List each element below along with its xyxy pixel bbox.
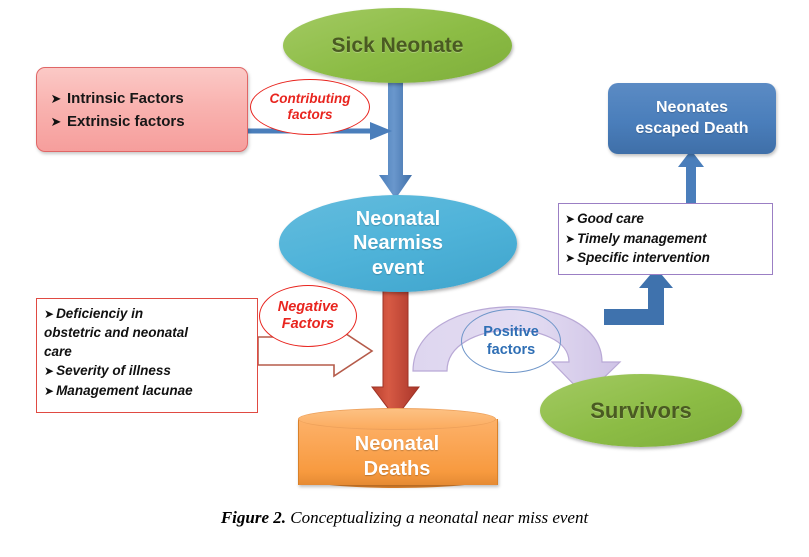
figure-caption: Figure 2. Conceptualizing a neonatal nea…: [0, 508, 809, 528]
bullet-arrow-icon: ➤: [44, 306, 54, 323]
positive-factor-1: Good care: [577, 209, 644, 229]
negative-factor-3: Management lacunae: [56, 381, 193, 400]
negative-factor-1-line-3: care: [44, 342, 252, 361]
box-negative-factors[interactable]: ➤ Deficienciy in obstetric and neonatal …: [36, 298, 258, 413]
contributing-factor-2: Extrinsic factors: [67, 113, 185, 130]
figure-caption-text: Conceptualizing a neonatal near miss eve…: [290, 508, 588, 527]
escaped-death-line-2: escaped Death: [636, 119, 749, 140]
node-survivors-label: Survivors: [590, 398, 692, 424]
negative-callout-line-2: Factors: [282, 316, 334, 333]
box-positive-factors[interactable]: ➤ Good care ➤ Timely management ➤ Specif…: [558, 203, 773, 275]
escaped-death-line-1: Neonates: [656, 98, 728, 119]
negative-factor-2: Severity of illness: [56, 361, 171, 380]
list-item: ➤ Good care: [565, 209, 768, 229]
positive-callout-line-2: factors: [487, 341, 535, 359]
list-item: ➤ Severity of illness: [44, 361, 252, 380]
bullet-arrow-icon: ➤: [44, 383, 54, 400]
positive-callout-line-1: Positive: [483, 323, 539, 341]
bullet-arrow-icon: ➤: [565, 231, 575, 248]
cylinder-top: [298, 408, 496, 430]
nearmiss-line-1: Neonatal: [356, 207, 440, 231]
connector-positives-to-escaped-death: [678, 150, 704, 203]
node-neonatal-nearmiss-event[interactable]: Neonatal Nearmiss event: [279, 195, 517, 292]
nearmiss-line-3: event: [372, 256, 424, 280]
contributing-factor-1: Intrinsic Factors: [67, 90, 184, 107]
contributing-callout-line-2: factors: [287, 107, 332, 123]
connector-nearmiss-to-deaths: [372, 282, 419, 418]
list-item: ➤ Management lacunae: [44, 381, 252, 400]
node-survivors[interactable]: Survivors: [540, 374, 742, 447]
callout-contributing-factors[interactable]: Contributing factors: [250, 79, 370, 135]
deaths-line-2: Deaths: [298, 457, 496, 482]
box-contributing-factors[interactable]: ➤ Intrinsic Factors ➤ Extrinsic factors: [36, 67, 248, 152]
node-sick-neonate[interactable]: Sick Neonate: [283, 8, 512, 83]
list-item: ➤ Specific intervention: [565, 248, 768, 268]
positive-factor-2: Timely management: [577, 229, 707, 249]
list-item: ➤ Timely management: [565, 229, 768, 249]
figure-label: Figure 2.: [221, 508, 286, 527]
list-item: ➤ Deficienciy in: [44, 304, 252, 323]
list-item: ➤ Intrinsic Factors: [47, 90, 184, 107]
node-neonates-escaped-death[interactable]: Neonates escaped Death: [608, 83, 776, 154]
node-sick-neonate-label: Sick Neonate: [332, 34, 464, 58]
callout-negative-factors[interactable]: Negative Factors: [259, 285, 357, 347]
nearmiss-line-2: Nearmiss: [353, 231, 443, 255]
negative-callout-line-1: Negative: [278, 299, 338, 316]
bullet-arrow-icon: ➤: [44, 363, 54, 380]
callout-positive-factors[interactable]: Positive factors: [461, 309, 561, 373]
bullet-arrow-icon: ➤: [47, 114, 65, 130]
bullet-arrow-icon: ➤: [565, 211, 575, 228]
deaths-line-1: Neonatal: [298, 432, 496, 457]
connector-curve-to-positives-box: [596, 268, 673, 325]
node-neonatal-deaths[interactable]: Neonatal Deaths: [298, 408, 496, 494]
bullet-arrow-icon: ➤: [565, 250, 575, 267]
contributing-callout-line-1: Contributing: [270, 91, 351, 107]
list-item: ➤ Extrinsic factors: [47, 113, 185, 130]
negative-factor-1-line-1: Deficienciy in: [56, 304, 143, 323]
node-neonatal-deaths-label: Neonatal Deaths: [298, 432, 496, 482]
negative-factor-1-line-2: obstetric and neonatal: [44, 323, 252, 342]
positive-factor-3: Specific intervention: [577, 248, 710, 268]
bullet-arrow-icon: ➤: [47, 91, 65, 107]
